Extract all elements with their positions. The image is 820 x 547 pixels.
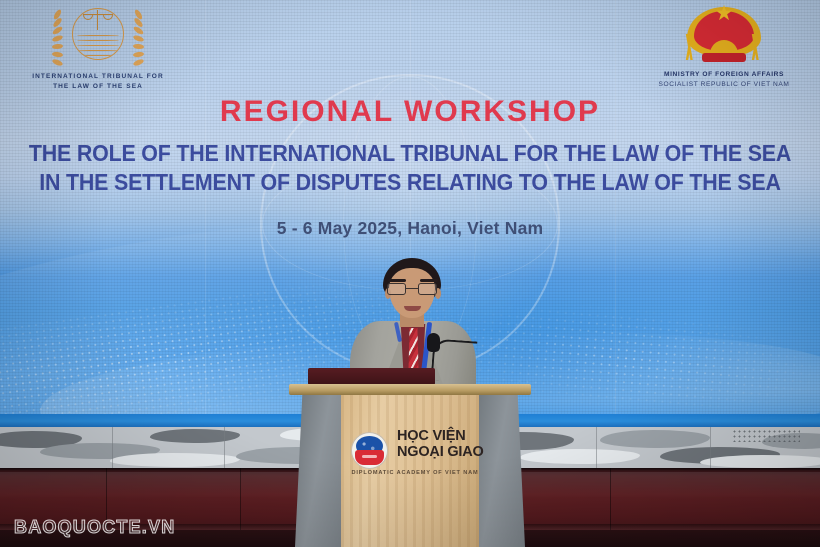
conference-photo: INTERNATIONAL TRIBUNAL FOR THE LAW OF TH… — [0, 0, 820, 547]
photo-vignette — [0, 0, 820, 547]
source-watermark: BAOQUOCTE.VN — [14, 517, 175, 538]
